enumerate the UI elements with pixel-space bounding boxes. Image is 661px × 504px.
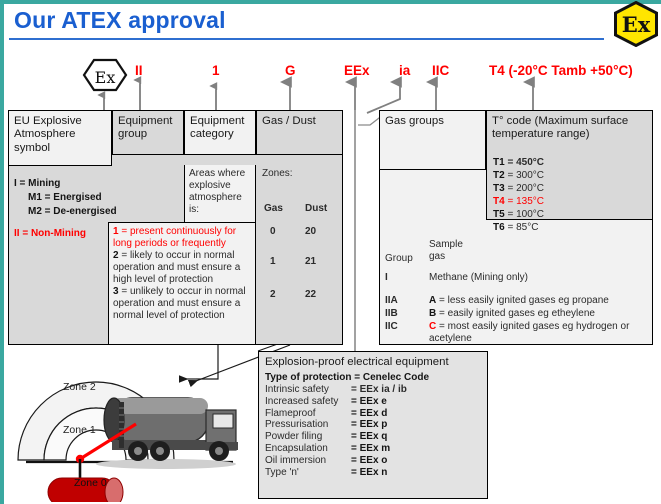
svg-text:Εx: Εx — [622, 12, 651, 37]
t-code-row-2: T3 = 200°C — [493, 183, 544, 196]
top-accent-strip — [0, 0, 661, 4]
hazard-zone-illustration — [8, 352, 258, 502]
code-label-gas-dust: G — [285, 63, 296, 78]
ex-hexagon-symbol: Εx — [82, 58, 128, 92]
header-equipment-group: Equipment group — [112, 110, 184, 155]
equipment-category-item-3: 3 = unlikely to occur in normal operatio… — [113, 286, 251, 322]
protection-row-flameproof: Flameproof= EEx d — [259, 408, 487, 420]
code-label-equipment-group: II — [135, 63, 143, 78]
header-gas-groups-label: Gas groups — [380, 111, 485, 128]
gas-dust-zones-label: Zones: — [262, 168, 293, 181]
gas-dust-row-2-gas: 2 — [270, 289, 276, 302]
equipment-category-intro-cell: Areas where explosive atmosphere is: — [184, 165, 256, 223]
header-eu-symbol-label: EU Explosive Atmosphere symbol — [9, 111, 111, 155]
gas-dust-col-dust: Dust — [305, 203, 327, 216]
header-gas-dust: Gas / Dust — [256, 110, 343, 155]
code-label-equipment-category: 1 — [212, 63, 220, 78]
gas-dust-row-2-dust: 22 — [305, 289, 316, 302]
gas-groups-row-0-sample: Methane (Mining only) — [429, 272, 528, 285]
header-equipment-group-label: Equipment group — [113, 111, 183, 142]
equipment-category-item-1: 1 = present continuously for long period… — [113, 226, 251, 250]
gas-groups-row-1-group: IIA — [385, 295, 398, 308]
protection-row-pressurisation: Pressurisation= EEx p — [259, 419, 487, 431]
t-code-row-5: T6 = 85°C — [493, 222, 538, 235]
gas-dust-row-1-gas: 1 — [270, 256, 276, 269]
zone-1-label: Zone 1 — [63, 424, 96, 436]
gas-dust-row-1-dust: 21 — [305, 256, 316, 269]
equipment-category-item-2: 2 = likely to occur in normal operation … — [113, 250, 251, 286]
eu-symbol-non-mining: II = Non-Mining — [14, 228, 86, 241]
gas-groups-row-3-group: IIC — [385, 321, 398, 334]
gas-groups-row-3-sample: C = most easily ignited gases eg hydroge… — [429, 321, 651, 345]
left-accent-strip — [0, 0, 4, 504]
explosion-panel-subtitle: Type of protection = Cenelec Code — [259, 371, 487, 384]
code-label-eex: EEx — [344, 63, 370, 78]
gas-groups-col-group: Group — [385, 253, 413, 266]
protection-row-powder-filing: Powder filing= EEx q — [259, 431, 487, 443]
gas-dust-col-gas: Gas — [264, 203, 283, 216]
header-gas-groups: Gas groups — [379, 110, 486, 170]
header-t-code-label: T° code (Maximum surface temperature ran… — [487, 111, 652, 142]
equipment-category-list-cell: 1 = present continuously for long period… — [108, 222, 256, 345]
title-underline — [9, 38, 604, 40]
equipment-category-intro: Areas where explosive atmosphere is: — [185, 165, 255, 219]
svg-text:Εx: Εx — [95, 68, 116, 87]
slide-root: Our ATEX approval Εx Εx II 1 G EEx ia II… — [0, 0, 661, 504]
gas-groups-row-1-sample: A = less easily ignited gases eg propane — [429, 295, 609, 308]
eu-symbol-m2: M2 = De-energised — [28, 206, 117, 219]
page-title: Our ATEX approval — [14, 7, 226, 34]
explosion-proof-panel: Explosion-proof electrical equipment Typ… — [258, 351, 488, 499]
t-code-row-1: T2 = 300°C — [493, 170, 544, 183]
header-equipment-category: Equipment category — [184, 110, 256, 155]
gas-dust-row-0-dust: 20 — [305, 226, 316, 239]
eu-symbol-m1: M1 = Energised — [28, 192, 102, 205]
eu-symbol-mining: I = Mining — [14, 178, 60, 191]
gas-groups-row-2-group: IIB — [385, 308, 398, 321]
code-label-temperature-code: T4 (-20°C Tamb +50°C) — [489, 63, 633, 78]
t-code-row-3: T4 = 135°C — [493, 196, 544, 209]
atex-ex-logo: Εx — [613, 1, 659, 47]
gas-dust-row-0-gas: 0 — [270, 226, 276, 239]
zone-0-label: Zone 0 — [74, 477, 107, 489]
t-code-row-4: T5 = 100°C — [493, 209, 544, 222]
zone-2-label: Zone 2 — [63, 381, 96, 393]
protection-row-encapsulation: Encapsulation= EEx m — [259, 443, 487, 455]
header-eu-symbol: EU Explosive Atmosphere symbol — [8, 110, 112, 166]
header-gas-dust-label: Gas / Dust — [257, 111, 342, 128]
protection-row-type-n: Type 'n'= EEx n — [259, 467, 487, 479]
code-label-gas-group: IIC — [432, 63, 449, 78]
explosion-panel-title: Explosion-proof electrical equipment — [259, 352, 487, 371]
gas-groups-row-2-sample: B = easily ignited gases eg etheylene — [429, 308, 595, 321]
t-code-row-0: T1 = 450°C — [493, 157, 544, 170]
header-equipment-category-label: Equipment category — [185, 111, 255, 142]
protection-row-oil-immersion: Oil immersion= EEx o — [259, 455, 487, 467]
gas-groups-row-0-group: I — [385, 272, 388, 285]
protection-row-intrinsic-safety: Intrinsic safety= EEx ia / ib — [259, 384, 487, 396]
gas-groups-col-sample: Sample gas — [429, 239, 477, 263]
protection-row-increased-safety: Increased safety= EEx e — [259, 396, 487, 408]
code-label-protection-ia: ia — [399, 63, 410, 78]
